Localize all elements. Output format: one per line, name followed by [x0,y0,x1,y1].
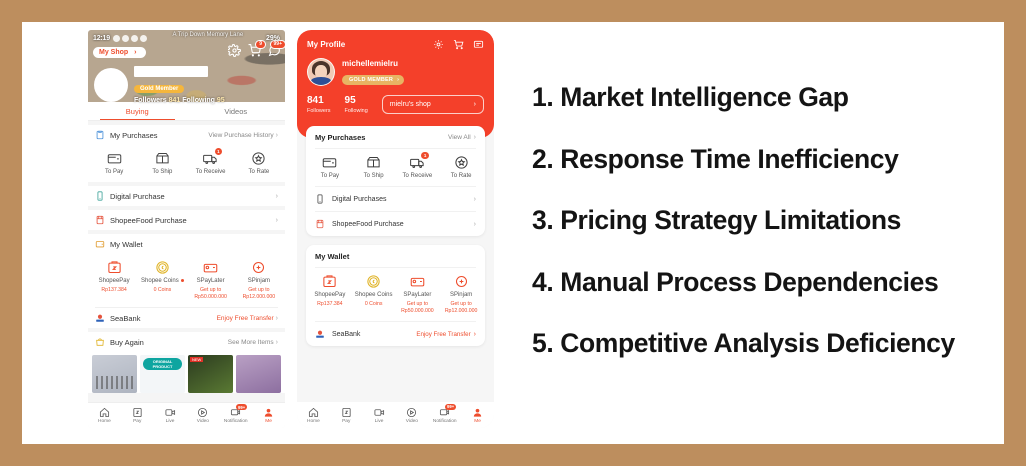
following-count: 95 [345,96,368,106]
followers-count: 841 [169,97,181,104]
nav-video[interactable]: Video [395,407,428,424]
see-more-items-label: See More Items [228,339,274,346]
shopeepay-icon [322,274,337,289]
phone-icon [315,194,325,204]
chevron-right-icon: › [474,134,476,141]
truck-icon: 1 [410,155,425,170]
gear-icon[interactable] [228,44,241,57]
truck-icon: 1 [203,151,218,166]
product-tile[interactable] [92,355,137,393]
nav-home[interactable]: Home [88,407,121,424]
seabank-label: SeaBank [332,331,416,338]
wallet-spinjam[interactable]: SPinjam Get up to Rp12.000.000 [439,274,483,314]
pay-icon [132,407,143,418]
seabank-action[interactable]: Enjoy Free Transfer › [416,331,476,338]
my-shop-label: My Shop [99,49,128,56]
nav-notification[interactable]: 99+ Notification [219,407,252,424]
digital-purchase-card: Digital Purchase › [88,186,285,206]
wallet-icon [95,239,105,249]
status-to-receive-label: To Receive [196,169,226,175]
buy-again-tiles: ORIGINAL PRODUCT NEW [88,352,285,393]
my-purchases-title: My Purchases [110,131,208,140]
profile-body: My Purchases View All › To Pay [297,126,494,346]
buy-again-header[interactable]: Buy Again See More Items › [88,332,285,352]
hero-header-icons: 9 99+ [228,44,281,57]
product-tag: ORIGINAL PRODUCT [143,358,182,370]
buy-again-card: Buy Again See More Items › ORIGINAL PROD… [88,332,285,393]
wallet-shopeepay-value: Rp137.384 [101,287,126,294]
video-icon [197,407,208,418]
product-tile[interactable]: NEW [188,355,233,393]
follow-stats: Followers 841 Following 95 [134,97,225,104]
nav-pay[interactable]: Pay [121,407,154,424]
wallet-shopeepay-value: Rp137.384 [317,301,342,308]
row-digital-purchase[interactable]: Digital Purchase › [88,186,285,206]
following-label: Following [345,108,368,114]
seabank-icon [315,329,325,339]
status-to-rate-label: To Rate [451,173,472,179]
live-icon [165,407,176,418]
product-tile[interactable]: ORIGINAL PRODUCT [140,355,185,393]
my-wallet-card: My Wallet ShopeePay Rp137.384 [306,245,485,346]
wallet-spaylater[interactable]: SPayLater Get up to Rp50.000.000 [187,260,235,300]
chevron-right-icon: › [276,339,278,346]
spinjam-icon [454,274,469,289]
battery-percent: 29% [266,35,280,42]
wallet-shopeepay[interactable]: ShopeePay Rp137.384 [90,260,138,300]
header-row: My Profile [307,39,484,50]
profile-summary: Gold Member Followers 841 Following 95 [88,66,285,104]
chat-icon[interactable] [473,39,484,50]
page-title: My Profile [307,40,345,49]
spaylater-icon [203,260,218,275]
chevron-right-icon: › [474,221,476,228]
seabank-action-label: Enjoy Free Transfer [217,315,274,322]
member-badge-label: GOLD MEMBER [349,77,393,83]
status-to-rate[interactable]: To Rate [235,151,283,175]
slide-canvas: 12:19 29% A Trip Down Memory Lane My Sho… [22,22,1004,444]
wallet-spinjam-label: SPinjam [248,278,270,284]
wallet-spinjam[interactable]: SPinjam Get up to Rp12.000.000 [235,260,283,300]
row-seabank[interactable]: SeaBank Enjoy Free Transfer › [88,308,285,328]
nav-live-label: Live [375,419,384,424]
chevron-right-icon: › [276,315,278,322]
spaylater-icon [410,274,425,289]
wallet-grid: ShopeePay Rp137.384 Shopee Coins 0 Coins [306,268,485,321]
wallet-coins[interactable]: Shopee Coins 0 Coins [352,274,396,314]
wallet-spinjam-label: SPinjam [450,292,472,298]
list-item: 2. Response Time Inefficiency [532,144,992,175]
profile-name-block: michellemielru GOLD MEMBER › [342,59,404,86]
wallet-shopeepay-label: ShopeePay [314,292,345,298]
status-to-pay-label: To Pay [105,169,123,175]
shopeefood-purchase-label: ShopeeFood Purchase [110,216,276,225]
nav-pay[interactable]: Pay [330,407,363,424]
problem-list: 1. Market Intelligence Gap 2. Response T… [532,82,992,390]
username-redacted [134,66,208,77]
my-shop-button[interactable]: mielru's shop › [382,95,484,114]
clipboard-icon [95,130,105,140]
my-purchases-header[interactable]: My Purchases View Purchase History › [88,125,285,145]
bottom-nav-after: Home Pay Live Video 99+ Notification [297,402,494,428]
wallet-spinjam-value: Get up to Rp12.000.000 [439,301,483,314]
status-to-pay[interactable]: To Pay [308,155,352,179]
chevron-right-icon: › [134,49,136,56]
profile-header-red: My Profile [297,30,494,138]
chevron-right-icon: › [276,193,278,200]
row-digital-purchases[interactable]: Digital Purchases › [306,187,485,211]
food-icon [315,219,325,229]
wallet-coins-text: Shopee Coins [141,278,179,284]
status-to-ship[interactable]: To Ship [352,155,396,179]
purchase-status-grid: To Pay To Ship 1 To Receive [88,145,285,182]
my-purchases-card: My Purchases View All › To Pay [306,126,485,236]
pay-icon [341,407,352,418]
gear-icon[interactable] [433,39,444,50]
wallet-spaylater-value: Get up to Rp50.000.000 [396,301,440,314]
chevron-right-icon: › [474,331,476,338]
profile-summary: michellemielru GOLD MEMBER › [307,58,484,86]
avatar-body [311,77,331,85]
my-purchases-title: My Purchases [315,133,365,142]
home-icon [308,407,319,418]
nav-live[interactable]: Live [154,407,187,424]
buy-again-title: Buy Again [110,338,228,347]
chevron-right-icon: › [474,196,476,203]
food-icon [95,215,105,225]
chevron-right-icon: › [276,217,278,224]
profile-stats-row: 841 Followers 95 Following mielru's shop… [307,95,484,114]
wallet-coins-value: 0 Coins [154,287,172,294]
profile-tabs: Buying Videos [88,102,285,121]
product-tile[interactable] [236,355,281,393]
status-bar-time: 12:19 [93,35,110,42]
view-all-label: View All [448,134,471,141]
wallet-spaylater-label: SPayLater [197,278,225,284]
wallet-spaylater-value: Get up to Rp50.000.000 [187,287,235,300]
list-item: 5. Competitive Analysis Deficiency [532,328,992,359]
seabank-icon [95,313,105,323]
my-purchases-card: My Purchases View Purchase History › To … [88,125,285,182]
following-label: Following [182,97,215,104]
nav-me[interactable]: Me [461,407,494,424]
product-tag: NEW [190,357,203,362]
chevron-right-icon: › [397,77,399,83]
cart-icon[interactable]: 9 [248,44,261,57]
profile-hero-banner: 12:19 29% A Trip Down Memory Lane My Sho… [88,30,285,102]
seabank-action[interactable]: Enjoy Free Transfer › [217,315,278,322]
to-receive-badge: 1 [421,152,429,159]
home-icon [99,407,110,418]
followers-label: Followers [134,97,167,104]
my-purchases-header: My Purchases View All › [306,126,485,148]
nav-video[interactable]: Video [186,407,219,424]
following-count: 95 [217,97,225,104]
my-wallet-card: My Wallet ShopeePay Rp137.384 Shopee Coi… [88,234,285,328]
nav-notification[interactable]: 99+ Notification [428,407,461,424]
nav-me-label: Me [474,419,481,424]
coins-dot-indicator [181,279,184,282]
chevron-right-icon: › [276,132,278,139]
member-badge[interactable]: GOLD MEMBER › [342,75,404,85]
view-purchase-history-link[interactable]: View Purchase History › [208,132,278,139]
my-wallet-title: My Wallet [110,240,278,249]
nav-video-label: Video [406,419,418,424]
video-icon [406,407,417,418]
status-to-rate[interactable]: To Rate [439,155,483,179]
phone-before-screenshot: 12:19 29% A Trip Down Memory Lane My Sho… [88,30,285,428]
username: michellemielru [342,59,404,68]
row-shopeefood-purchase[interactable]: ShopeeFood Purchase › [88,210,285,230]
digital-purchases-label: Digital Purchases [332,196,474,203]
view-all-link[interactable]: View All › [448,134,476,141]
bottom-nav-before: Home Pay Live Video 99+ Notification [88,402,285,428]
wallet-spaylater[interactable]: SPayLater Get up to Rp50.000.000 [396,274,440,314]
seabank-label: SeaBank [110,314,217,323]
nav-home-label: Home [98,419,111,424]
star-circle-icon [251,151,266,166]
wallet-icon [107,151,122,166]
my-shop-button[interactable]: My Shop › [93,47,146,58]
chat-icon[interactable]: 99+ [268,44,281,57]
nav-notification-badge: 99+ [236,404,247,410]
my-wallet-title: My Wallet [315,252,349,261]
nav-notification-label: Notification [224,419,248,424]
nav-notification-badge: 99+ [445,404,456,410]
nav-live-label: Live [166,419,175,424]
nav-notification-label: Notification [433,419,457,424]
nav-home[interactable]: Home [297,407,330,424]
status-icon-3 [131,35,138,42]
box-icon [366,155,381,170]
digital-purchase-label: Digital Purchase [110,192,276,201]
wallet-spinjam-value: Get up to Rp12.000.000 [235,287,283,300]
chevron-right-icon: › [474,101,476,108]
tab-videos[interactable]: Videos [187,102,286,120]
coin-icon [366,274,381,289]
nav-me[interactable]: Me [252,407,285,424]
spinjam-icon [251,260,266,275]
status-bar-right: 29% [266,35,280,42]
person-icon [263,407,274,418]
status-to-pay[interactable]: To Pay [90,151,138,175]
list-item: 1. Market Intelligence Gap [532,82,992,113]
header-icons [433,39,484,50]
status-to-receive-label: To Receive [403,173,433,179]
nav-pay-label: Pay [342,419,350,424]
to-receive-badge: 1 [215,148,223,155]
followers-label: Followers [307,108,331,114]
status-bar-icons [113,35,147,42]
status-to-pay-label: To Pay [321,173,339,179]
row-seabank[interactable]: SeaBank Enjoy Free Transfer › [306,322,485,346]
product-thumb [96,376,133,389]
wallet-icon [322,155,337,170]
wallet-shopeepay[interactable]: ShopeePay Rp137.384 [308,274,352,314]
view-purchase-history-label: View Purchase History [208,132,273,139]
status-bar: 12:19 29% [88,32,285,44]
tab-buying-label: Buying [126,107,149,116]
row-shopeefood-purchase[interactable]: ShopeeFood Purchase › [306,212,485,236]
status-icon-2 [122,35,129,42]
see-more-items-link[interactable]: See More Items › [228,339,278,346]
cart-icon[interactable] [453,39,464,50]
box-icon [155,151,170,166]
person-icon [472,407,483,418]
wallet-grid: ShopeePay Rp137.384 Shopee Coins 0 Coins… [88,254,285,307]
wallet-coins-value: 0 Coins [365,301,383,308]
bag-icon [95,337,105,347]
my-shop-label: mielru's shop [390,101,431,108]
list-item: 4. Manual Process Dependencies [532,267,992,298]
nav-live[interactable]: Live [363,407,396,424]
status-icon-4 [140,35,147,42]
wallet-shopeepay-label: ShopeePay [99,278,130,284]
followers-count: 841 [307,96,331,106]
wallet-coins-label: Shopee Coins [141,278,184,284]
nav-pay-label: Pay [133,419,141,424]
my-wallet-header: My Wallet [306,245,485,267]
tab-buying[interactable]: Buying [88,102,187,120]
status-to-receive[interactable]: 1 To Receive [396,155,440,179]
wallet-coins[interactable]: Shopee Coins 0 Coins [138,260,186,300]
purchase-status-grid: To Pay To Ship 1 To Receive [306,149,485,186]
status-to-ship[interactable]: To Ship [138,151,186,175]
followers-stat[interactable]: 841 Followers [307,96,331,114]
shopeefood-purchase-card: ShopeeFood Purchase › [88,210,285,230]
avatar[interactable] [94,68,128,102]
live-icon [374,407,385,418]
nav-me-label: Me [265,419,272,424]
phone-icon [95,191,105,201]
status-to-ship-label: To Ship [364,173,384,179]
profile-text-block: Gold Member Followers 841 Following 95 [134,66,225,104]
shopeefood-purchase-label: ShopeeFood Purchase [332,221,474,228]
status-icon-1 [113,35,120,42]
seabank-action-label: Enjoy Free Transfer [416,331,470,338]
status-to-ship-label: To Ship [152,169,172,175]
tab-videos-label: Videos [224,107,247,116]
list-item: 3. Pricing Strategy Limitations [532,205,992,236]
nav-video-label: Video [197,419,209,424]
wallet-coins-label: Shopee Coins [355,292,393,298]
shopeepay-icon [107,260,122,275]
coin-icon [155,260,170,275]
wallet-spaylater-label: SPayLater [403,292,431,298]
status-to-rate-label: To Rate [249,169,270,175]
status-to-receive[interactable]: 1 To Receive [187,151,235,175]
avatar[interactable] [307,58,335,86]
my-wallet-header[interactable]: My Wallet [88,234,285,254]
nav-home-label: Home [307,419,320,424]
star-circle-icon [454,155,469,170]
member-badge[interactable]: Gold Member [134,85,184,93]
following-stat[interactable]: 95 Following [345,96,368,114]
phone-after-redesign: My Profile [297,30,494,428]
